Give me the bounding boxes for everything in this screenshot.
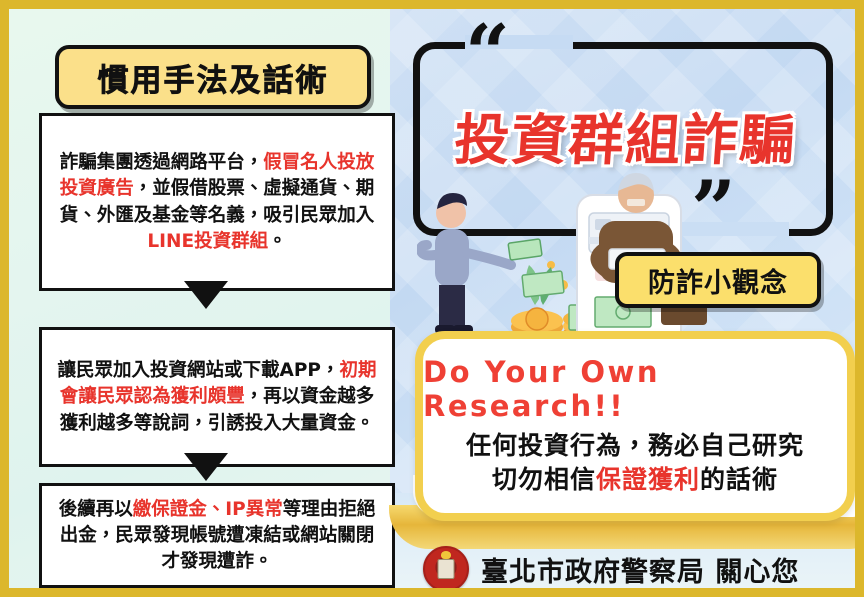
quote-open-icon: “ <box>465 15 510 93</box>
down-triangle-icon <box>184 281 228 309</box>
advice-english: Do Your Own Research!! <box>423 355 847 423</box>
right-column: “ ” 投資群組詐騙 <box>403 9 864 597</box>
sub-badge: 防詐小觀念 <box>615 252 821 308</box>
step-3-text: 後續再以繳保證金、IP異常等理由拒絕出金，民眾發現帳號遭凍結或網站關閉才發現遭詐… <box>52 497 382 576</box>
left-heading-badge: 慣用手法及話術 <box>55 45 371 109</box>
investment-scam-illustration: xxxx <box>417 137 837 349</box>
left-column: 慣用手法及話術 詐騙集團透過網路平台，假冒名人投放投資廣告，並假借股票、虛擬通貨… <box>9 9 403 597</box>
taipei-police-emblem-icon <box>423 546 469 592</box>
step-box-2: 讓民眾加入投資網站或下載APP，初期會讓民眾認為獲利頗豐，再以資金越多獲利越多等… <box>39 327 395 467</box>
left-heading-label: 慣用手法及話術 <box>98 55 329 100</box>
step-1-text: 詐騙集團透過網路平台，假冒名人投放投資廣告，並假借股票、虛擬通貨、期貨、外匯及基… <box>52 150 382 255</box>
advice-card: Do Your Own Research!! 任何投資行為，務必自己研究 切勿相… <box>415 331 855 521</box>
poster-root: 慣用手法及話術 詐騙集團透過網路平台，假冒名人投放投資廣告，並假借股票、虛擬通貨… <box>0 0 864 597</box>
step-2-text: 讓民眾加入投資網站或下載APP，初期會讓民眾認為獲利頗豐，再以資金越多獲利越多等… <box>52 358 382 437</box>
advice-line-3: 切勿相信保證獲利的話術 <box>492 463 778 497</box>
down-triangle-icon <box>184 453 228 481</box>
sub-badge-label: 防詐小觀念 <box>648 261 788 300</box>
footer: 臺北市政府警察局 關心您 <box>423 543 863 595</box>
step-box-1: 詐騙集團透過網路平台，假冒名人投放投資廣告，並假借股票、虛擬通貨、期貨、外匯及基… <box>39 113 395 291</box>
step-box-3: 後續再以繳保證金、IP異常等理由拒絕出金，民眾發現帳號遭凍結或網站關閉才發現遭詐… <box>39 483 395 588</box>
footer-label: 臺北市政府警察局 關心您 <box>481 550 799 589</box>
advice-line-2: 任何投資行為，務必自己研究 <box>466 429 804 463</box>
